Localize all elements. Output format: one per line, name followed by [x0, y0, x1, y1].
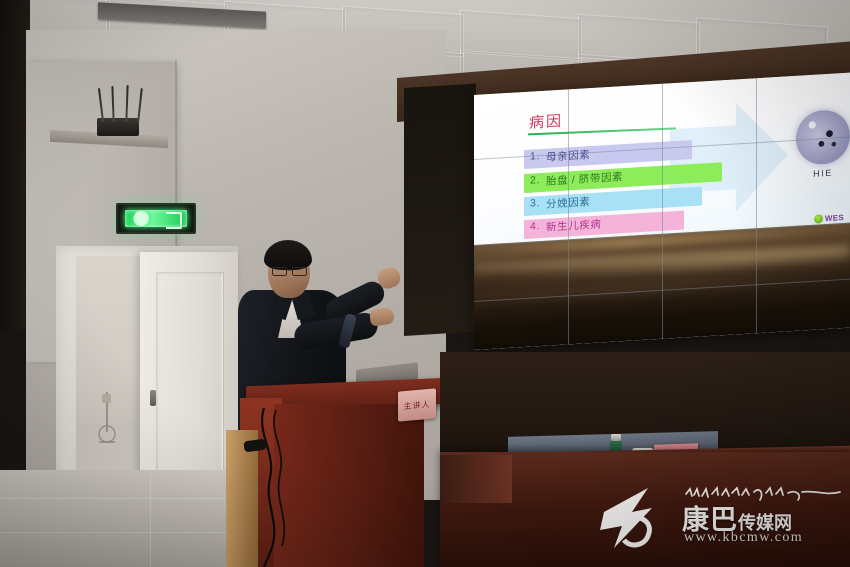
- door-handle[interactable]: [150, 390, 156, 406]
- logo-text: WES: [825, 213, 844, 223]
- kangba-media-logo: [596, 486, 676, 552]
- logo-mark-icon: [814, 214, 823, 224]
- speaker-pointing-hand: [369, 306, 395, 326]
- table-side-panel: [440, 455, 512, 503]
- running-person-exit-icon: [125, 210, 187, 227]
- bullet-number: 4.: [530, 220, 540, 233]
- podium-name-plate: 主讲人: [398, 388, 436, 421]
- videowall-bezel: [568, 89, 569, 344]
- podium-plate-label: 主讲人: [404, 398, 431, 411]
- emergency-exit-sign: [116, 203, 196, 234]
- slide-corner-logo: WES: [814, 213, 844, 224]
- bullet-number: 3.: [530, 197, 540, 210]
- watermark-url: www.kbcmw.com: [684, 530, 803, 546]
- kangba-media-watermark: 康巴传媒网 www.kbcmw.com: [596, 480, 844, 560]
- bullet-number: 2.: [530, 174, 540, 187]
- iv-drip-stand: [96, 392, 118, 444]
- slide-title: 病因: [529, 110, 563, 133]
- videowall-bezel: [756, 78, 757, 333]
- videowall-bezel: [662, 84, 663, 339]
- eyeglasses-icon: [272, 263, 308, 272]
- microphone-cable: [246, 408, 306, 567]
- bottle-cap: [611, 434, 621, 441]
- hie-figure-group: HIE: [792, 108, 850, 217]
- lecture-room-photo: 病因 1. 母亲因素 2. 胎盘 / 脐带因素 3. 分娩因素 4. 新生儿疾病: [0, 0, 850, 567]
- iv-stand-icon: [96, 392, 118, 444]
- figure-caption: HIE: [792, 166, 850, 180]
- video-wall-display[interactable]: 病因 1. 母亲因素 2. 胎盘 / 脐带因素 3. 分娩因素 4. 新生儿疾病: [474, 73, 850, 350]
